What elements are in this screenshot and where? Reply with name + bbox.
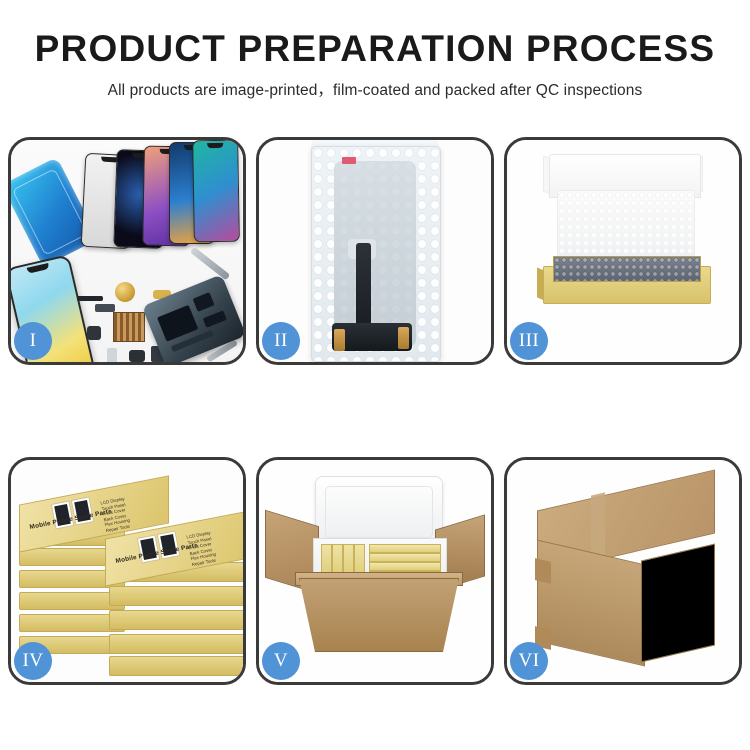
chip-small-b <box>203 310 227 328</box>
step-panel-4: Mobile Phone Spare Parts LCD Display Tou… <box>8 457 246 685</box>
carton-tab-top <box>535 558 551 584</box>
button-part <box>87 326 101 340</box>
step-panel-3: III <box>504 137 742 365</box>
step-panel-2: II <box>256 137 494 365</box>
step-badge-6: VI <box>510 642 548 680</box>
phone-screen-5 <box>192 140 240 242</box>
connector-grid-part <box>113 312 145 342</box>
step-panel-6: VI <box>504 457 742 685</box>
step-badge-3: III <box>510 322 548 360</box>
gold-contact-left <box>334 329 345 351</box>
carton-side-face <box>641 543 715 662</box>
red-label-tab <box>342 157 356 164</box>
box-stack: Mobile Phone Spare Parts LCD Display Tou… <box>17 476 243 676</box>
product-preparation-infographic: PRODUCT PREPARATION PROCESS All products… <box>0 0 750 750</box>
process-steps-grid: I II <box>8 137 742 685</box>
chip-large <box>157 305 198 342</box>
bubble-wrap-contents <box>553 256 701 282</box>
inner-box-flat-2 <box>369 553 441 562</box>
step-badge-2: II <box>262 322 300 360</box>
step-badge-1: I <box>14 322 52 360</box>
speaker-part <box>115 282 135 302</box>
box-tray <box>543 256 709 302</box>
foam-sheet <box>557 190 695 260</box>
step-badge-4: IV <box>14 642 52 680</box>
battery-part <box>107 348 117 362</box>
step-panel-5: V <box>256 457 494 685</box>
camera-part <box>129 350 145 362</box>
page-title: PRODUCT PREPARATION PROCESS <box>0 30 750 69</box>
bubble-wrap-bag <box>311 146 441 362</box>
inner-box-flat-3 <box>369 562 441 571</box>
gold-contact-right <box>398 327 409 349</box>
inner-box-flat-1 <box>369 544 441 553</box>
step-panel-1: I <box>8 137 246 365</box>
stacked-box-r2 <box>109 586 243 606</box>
stacked-box-r4 <box>109 634 243 654</box>
flex-strip-part <box>77 296 103 301</box>
carton-body <box>299 578 459 652</box>
step-badge-5: V <box>262 642 300 680</box>
stacked-box-r3 <box>109 610 243 630</box>
screwdriver-1 <box>190 247 231 281</box>
antenna-part <box>95 304 115 312</box>
page-subtitle: All products are image-printed，film-coat… <box>0 78 750 100</box>
chip-small-a <box>193 292 215 312</box>
carton-front-face <box>537 540 645 667</box>
tape-seam <box>591 492 605 557</box>
stacked-box-r5 <box>109 656 243 676</box>
header: PRODUCT PREPARATION PROCESS All products… <box>0 0 750 100</box>
